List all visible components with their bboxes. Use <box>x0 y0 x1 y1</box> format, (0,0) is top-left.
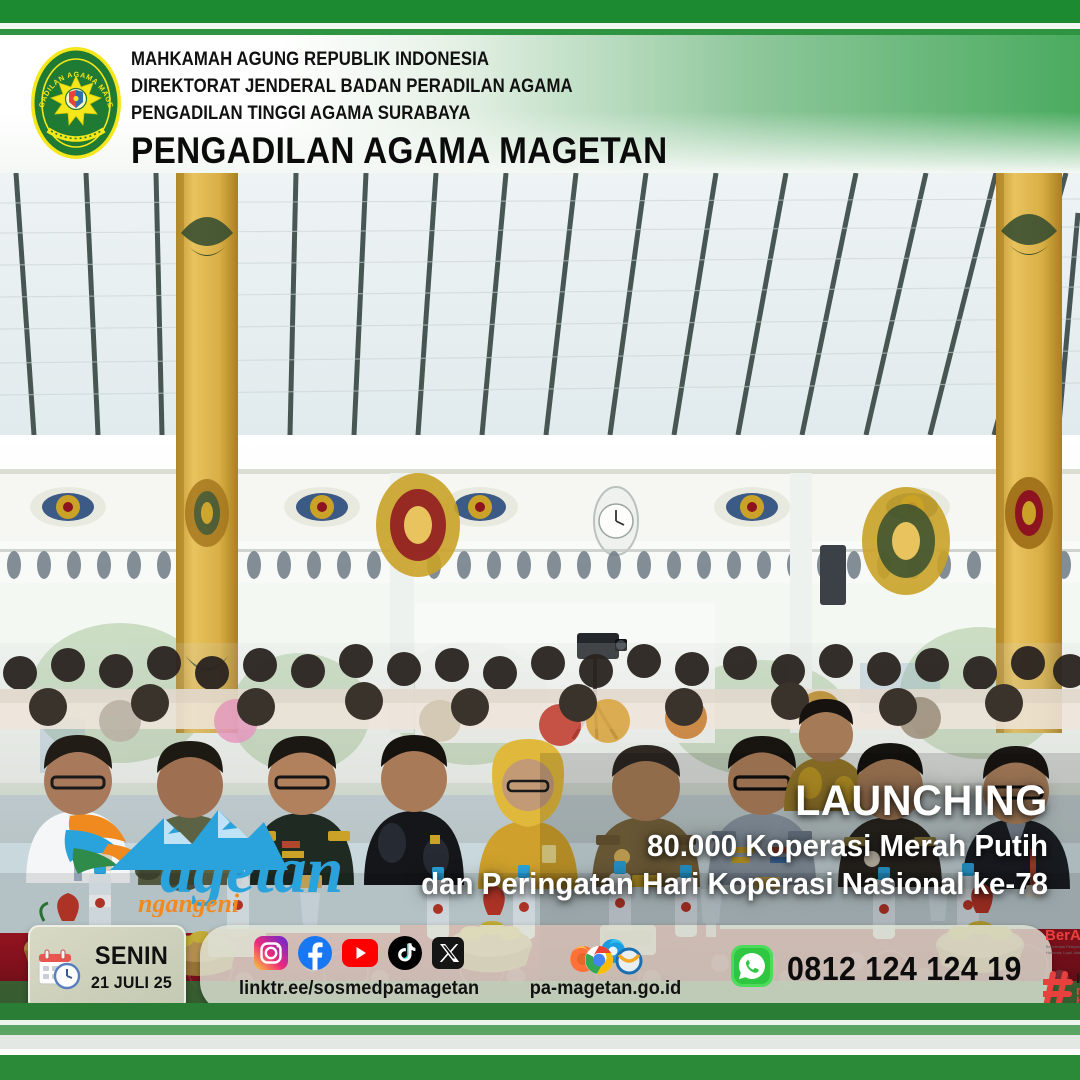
calendar-clock-icon <box>37 947 81 991</box>
berakhlak-logo: BerAKHLAK Berorientasi Pelayanan, Akunta… <box>1043 925 1080 964</box>
magetan-tagline-text: ngangeni <box>138 889 240 917</box>
government-brand-block: BerAKHLAK Berorientasi Pelayanan, Akunta… <box>1043 925 1080 1013</box>
web-browsers-icon <box>565 938 647 974</box>
header-court-name: PENGADILAN AGAMA MAGETAN <box>131 132 815 169</box>
linktree-label[interactable]: linktr.ee/sosmedpamagetan <box>239 977 479 1000</box>
footer-contact-panel: linktr.ee/sosmedpamagetan <box>200 925 1052 1012</box>
header-line-2: DIREKTORAT JENDERAL BADAN PERADILAN AGAM… <box>131 76 785 97</box>
social-media-block: linktr.ee/sosmedpamagetan <box>230 938 488 1000</box>
poster-canvas: PENGADILAN AGAMA MAGETAN MAHKAMAH AGUNG … <box>0 0 1080 1080</box>
headline-subtitle-1: 80.000 Koperasi Merah Putih <box>402 827 1048 865</box>
header-text-block: MAHKAMAH AGUNG REPUBLIK INDONESIA DIREKT… <box>131 45 891 169</box>
whatsapp-block: 0812 124 124 19 <box>731 945 1042 992</box>
date-badge: SENIN 21 JULI 25 <box>28 925 186 1012</box>
header-line-1: MAHKAMAH AGUNG REPUBLIK INDONESIA <box>131 49 785 70</box>
date-value-label: 21 JULI 25 <box>90 973 174 993</box>
court-crest-logo: PENGADILAN AGAMA MAGETAN <box>28 44 124 162</box>
headline-subtitle-2: dan Peringatan Hari Koperasi Nasional ke… <box>402 865 1048 903</box>
instagram-icon[interactable] <box>254 936 288 975</box>
x-twitter-icon[interactable] <box>432 937 464 974</box>
date-text-block: SENIN 21 JULI 25 <box>87 944 176 993</box>
bottom-grey-stripe <box>0 1035 1080 1049</box>
whatsapp-icon[interactable] <box>731 945 773 992</box>
whatsapp-number[interactable]: 0812 124 124 19 <box>787 950 1022 988</box>
svg-text:Berorientasi Pelayanan, Akunta: Berorientasi Pelayanan, Akuntabel, Kompe… <box>1046 945 1080 949</box>
bottom-green-bar-3 <box>0 1055 1080 1080</box>
website-block: pa-magetan.go.id <box>524 938 687 1000</box>
social-icons-row <box>254 938 464 974</box>
bottom-green-bar-2 <box>0 1025 1080 1035</box>
headline-block: LAUNCHING 80.000 Koperasi Merah Putih da… <box>368 780 1048 902</box>
header-line-3: PENGADILAN TINGGI AGAMA SURABAYA <box>131 103 785 124</box>
tiktok-icon[interactable] <box>388 936 422 975</box>
svg-text:BerAKHLAK: BerAKHLAK <box>1045 927 1080 944</box>
facebook-icon[interactable] <box>298 936 332 975</box>
youtube-icon[interactable] <box>342 939 378 972</box>
website-label[interactable]: pa-magetan.go.id <box>530 977 682 1000</box>
magetan-tourism-logo: agetan ngangeni <box>52 782 372 917</box>
svg-text:Harmonis, Loyal, Adaptif, Kola: Harmonis, Loyal, Adaptif, Kolaboratif <box>1046 951 1080 955</box>
headline-launching: LAUNCHING <box>395 780 1048 824</box>
date-day-label: SENIN <box>90 944 174 970</box>
top-green-bar <box>0 0 1080 23</box>
bottom-green-bar-1 <box>0 1003 1080 1020</box>
poster-header: PENGADILAN AGAMA MAGETAN MAHKAMAH AGUNG … <box>0 35 1080 173</box>
